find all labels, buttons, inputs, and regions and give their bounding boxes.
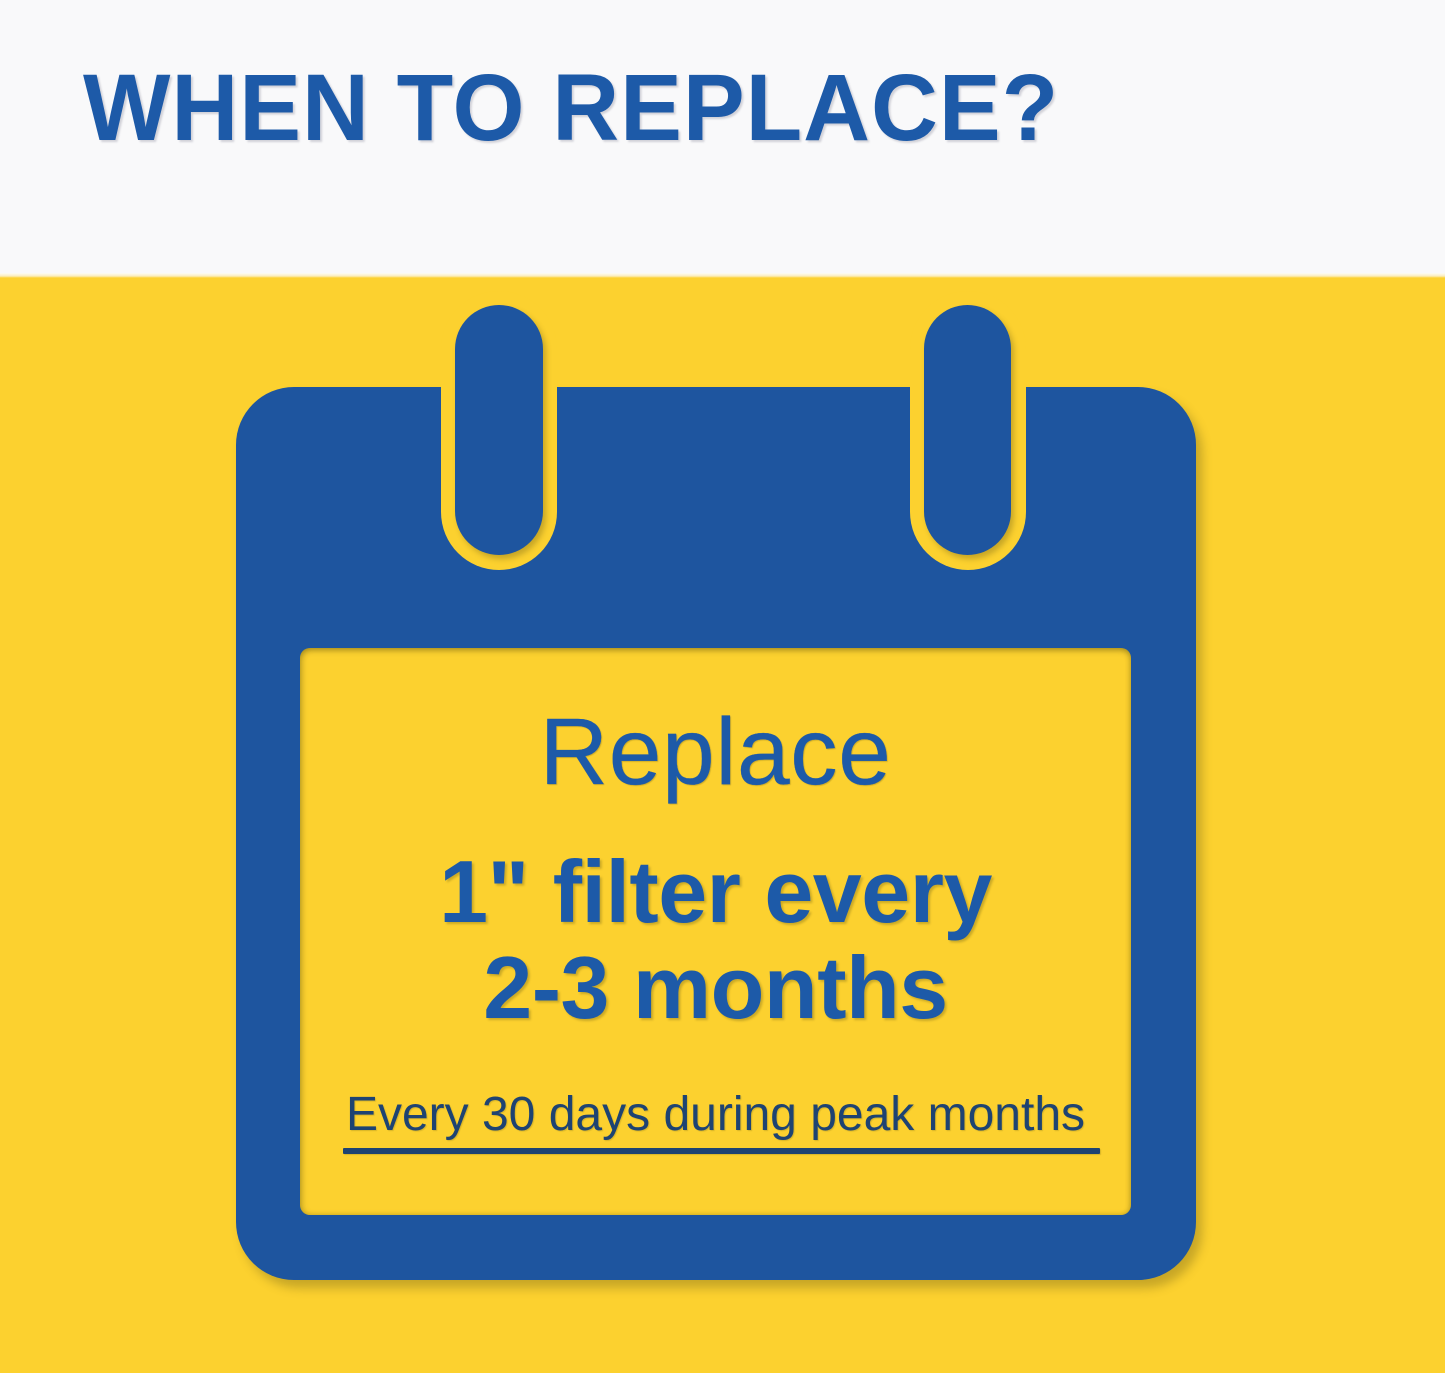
calendar-page: Replace 1" filter every 2-3 months Every…	[300, 648, 1131, 1215]
headline-line-2: 2-3 months	[300, 940, 1131, 1036]
infographic-canvas: WHEN TO REPLACE? Replace 1" filter every…	[0, 0, 1445, 1373]
subtitle-text: Every 30 days during peak months	[300, 1086, 1131, 1144]
headline-line-1: 1" filter every	[300, 844, 1131, 940]
calendar-ring-right	[924, 305, 1011, 555]
calendar-icon: Replace 1" filter every 2-3 months Every…	[0, 0, 1445, 1373]
calendar-ring-left	[455, 305, 543, 555]
subtitle-underline	[343, 1148, 1100, 1154]
replace-eyebrow: Replace	[300, 702, 1131, 802]
